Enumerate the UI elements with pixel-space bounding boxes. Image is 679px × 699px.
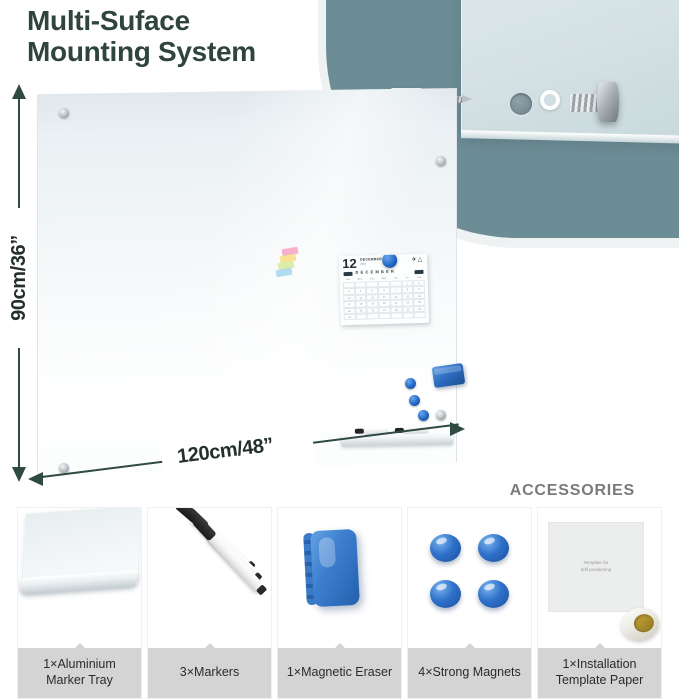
calendar-tab-icon: [414, 270, 423, 274]
calendar-month-word: DECEMBER: [355, 269, 396, 275]
calendar-weekday: Mon: [355, 278, 366, 281]
calendar-weekday: Sun: [343, 278, 354, 281]
whiteboard-product-image: 12 DECEMBER 2023 ✈△ DECEMBER Sun Mon Tue…: [37, 88, 457, 476]
arrow-head-right-icon: [450, 422, 465, 436]
template-paper-icon: Template for drill positioning: [538, 508, 661, 648]
calendar-tab-icon: [343, 272, 352, 276]
calendar-day-cell: [379, 313, 391, 320]
magnet-on-board: [405, 378, 416, 389]
mounting-cap-icon: [597, 82, 619, 122]
calendar-grid: 1234567891011121314151617181920212223242…: [343, 280, 426, 322]
calendar-day-cell: [355, 313, 367, 320]
calendar-header: 12 DECEMBER 2023 ✈△ DECEMBER: [339, 254, 428, 278]
magnet-icon: [430, 580, 461, 608]
accessory-label: 4×Strong Magnets: [408, 648, 531, 698]
accessory-label: 3×Markers: [148, 648, 271, 698]
calendar-day-cell: [391, 312, 403, 319]
magnet-icon: [478, 580, 509, 608]
magnet-icon: [430, 534, 461, 562]
calendar-year: 2023: [360, 262, 366, 265]
glass-hole-icon: [510, 93, 532, 115]
calendar-doodle-icon: ✈△: [411, 256, 423, 263]
width-dimension: 120cm/48”: [32, 430, 470, 502]
accessory-card-eraser: 1×Magnetic Eraser: [278, 508, 401, 698]
calendar-weekday: Sat: [414, 276, 425, 279]
marker-tray-icon: [18, 508, 141, 648]
eraser-body-icon: [310, 529, 360, 607]
arrow-head-down-icon: [12, 467, 26, 482]
accessories-strip: 1×Aluminium Marker Tray 3×Markers 1×Magn…: [18, 508, 661, 698]
calendar-month: DECEMBER: [360, 257, 382, 262]
magnetic-eraser-on-board: [432, 363, 466, 388]
calendar-weekday: Tue: [366, 277, 377, 280]
accessory-card-marker-tray: 1×Aluminium Marker Tray: [18, 508, 141, 698]
accessory-card-template-paper: Template for drill positioning 1×Install…: [538, 508, 661, 698]
magnet-on-board: [418, 410, 429, 421]
arrow-head-left-icon: [28, 472, 43, 486]
template-sheet: Template for drill positioning: [548, 522, 644, 612]
accessory-card-magnets: 4×Strong Magnets: [408, 508, 531, 698]
calendar-sheet: 12 DECEMBER 2023 ✈△ DECEMBER Sun Mon Tue…: [339, 254, 429, 325]
height-dimension-label: 90cm/36”: [0, 221, 89, 335]
magnet-icon: [478, 534, 509, 562]
calendar-day-cell: [414, 312, 426, 319]
accessory-label: 1×Installation Template Paper: [538, 648, 661, 698]
strong-magnets-icon: [408, 508, 531, 648]
accessory-label: 1×Magnetic Eraser: [278, 648, 401, 698]
calendar-day-cell: 31: [344, 314, 356, 321]
calendar-day-cell: [402, 312, 414, 319]
mounting-screw-icon: [59, 108, 69, 118]
accessory-label: 1×Aluminium Marker Tray: [18, 648, 141, 698]
hero-glass-sheet: [461, 0, 679, 143]
page-title: Multi-Suface Mounting System: [27, 5, 357, 68]
accessory-card-markers: 3×Markers: [148, 508, 271, 698]
calendar-weekday: Fri: [402, 276, 413, 279]
calendar-magnet-icon: [382, 254, 397, 268]
height-dimension: 90cm/36”: [10, 88, 28, 478]
calendar-day: 12: [342, 257, 357, 270]
accessories-heading: ACCESSORIES: [510, 482, 635, 500]
magnet-on-board: [409, 395, 420, 406]
calendar-weekday: Thu: [390, 277, 401, 280]
arrow-head-up-icon: [12, 84, 26, 99]
magnetic-eraser-icon: [278, 508, 401, 648]
calendar-day-cell: [367, 313, 379, 320]
washer-icon: [540, 90, 560, 110]
calendar-weekday: Wed: [378, 277, 389, 280]
template-note-text: Template for drill positioning: [581, 560, 611, 574]
screw-tip-icon: [462, 95, 472, 103]
marker-icon: [206, 531, 266, 594]
markers-icon: [148, 508, 271, 648]
mounting-screw-icon: [436, 410, 446, 420]
mounting-screw-icon: [436, 156, 446, 166]
product-infographic: Multi-Suface Mounting System 12 DECEMBER…: [0, 0, 679, 699]
calendar-week-row: 31: [344, 312, 426, 321]
